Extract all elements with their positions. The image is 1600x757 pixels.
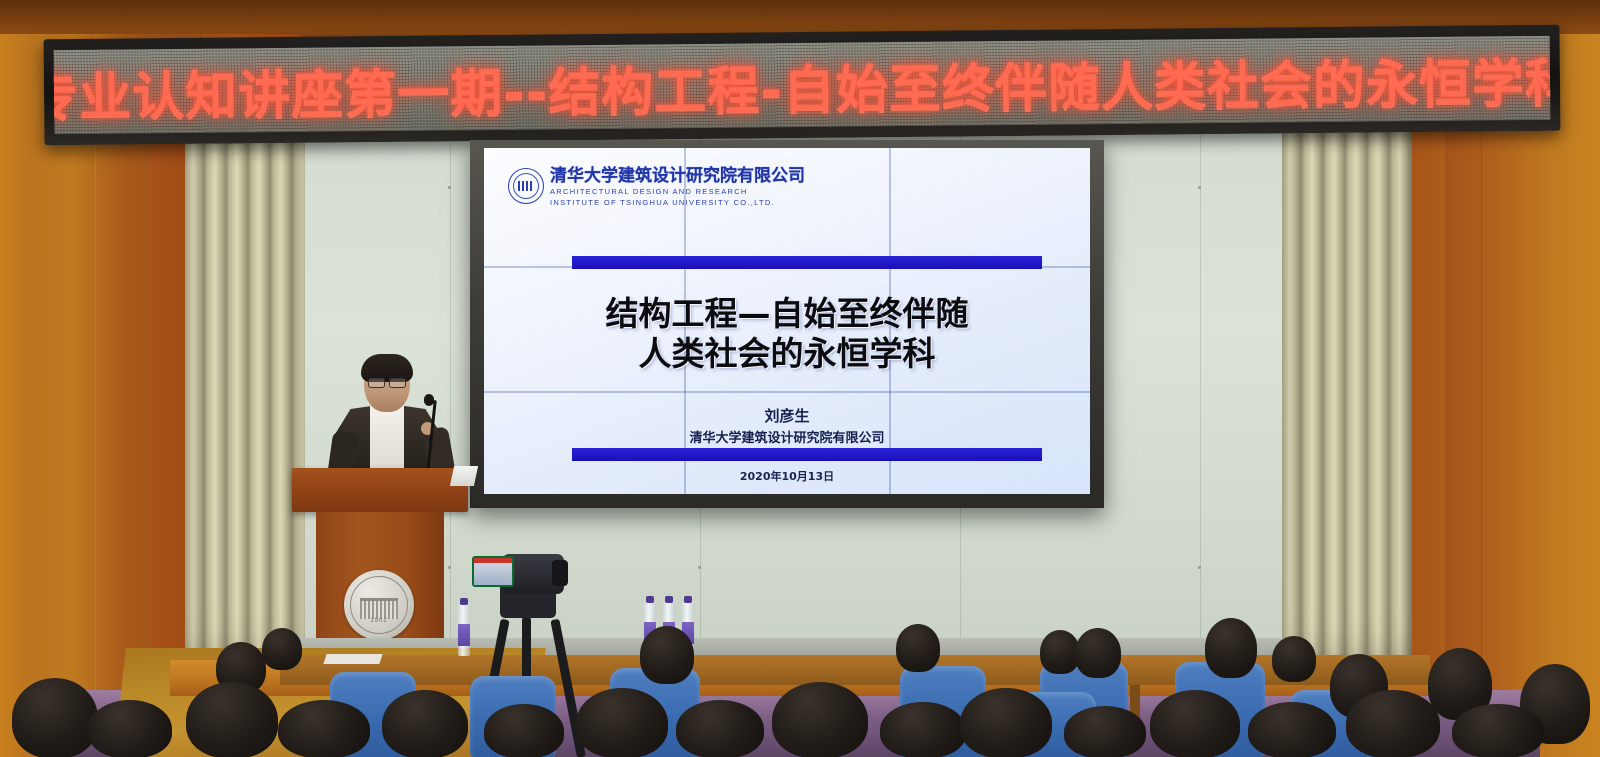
- podium-top: [292, 468, 468, 512]
- emblem-year: 1902: [344, 618, 414, 624]
- audience-head: [1075, 628, 1121, 678]
- audience-head: [1040, 630, 1080, 674]
- audience-head: [262, 628, 302, 670]
- audience-head: [960, 688, 1052, 757]
- slide-title: 结构工程—自始至终伴随 人类社会的永恒学科: [484, 294, 1090, 375]
- led-banner-frame: 专业认知讲座第一期--结构工程-自始至终伴随人类社会的永恒学科: [44, 25, 1561, 146]
- right-curtain: [1282, 122, 1412, 687]
- audience-head: [896, 624, 940, 672]
- audience-head: [484, 704, 564, 757]
- microphone-icon: [424, 394, 434, 406]
- university-emblem-icon: 1902: [344, 570, 414, 640]
- audience-head: [1452, 704, 1544, 757]
- led-banner-text: 专业认知讲座第一期--结构工程-自始至终伴随人类社会的永恒学科: [54, 40, 1551, 130]
- audience-head: [1248, 702, 1336, 757]
- led-banner-screen: 专业认知讲座第一期--结构工程-自始至终伴随人类社会的永恒学科: [54, 36, 1551, 134]
- camera-lens-icon: [552, 560, 568, 586]
- slide-logo-english-line2: INSTITUTE OF TSINGHUA UNIVERSITY CO.,LTD…: [550, 198, 805, 208]
- slide-logo-english-line1: ARCHITECTURAL DESIGN AND RESEARCH: [550, 187, 805, 197]
- slide-author: 刘彦生: [484, 405, 1090, 426]
- water-bottle: [458, 604, 470, 656]
- left-curtain: [185, 122, 305, 687]
- laptop-screen: [450, 466, 478, 486]
- audience-head: [12, 678, 98, 757]
- audience-head: [576, 688, 668, 757]
- slide-title-line1: 结构工程—自始至终伴随: [484, 294, 1090, 334]
- glasses-icon: [368, 378, 406, 386]
- audience-head: [640, 626, 694, 684]
- audience-head: [676, 700, 764, 757]
- audience-head: [186, 682, 278, 757]
- audience-head: [382, 690, 468, 757]
- tsinghua-seal-icon: [508, 168, 544, 204]
- slide-accent-bar-bottom: [572, 448, 1042, 461]
- slide-title-line2: 人类社会的永恒学科: [484, 334, 1090, 374]
- slide-logo-chinese: 清华大学建筑设计研究院有限公司: [550, 168, 805, 186]
- audience-head: [1272, 636, 1316, 682]
- audience-head: [1205, 618, 1257, 678]
- slide-logo: 清华大学建筑设计研究院有限公司 ARCHITECTURAL DESIGN AND…: [508, 168, 805, 208]
- audience-head: [1346, 690, 1440, 757]
- presentation-slide: 清华大学建筑设计研究院有限公司 ARCHITECTURAL DESIGN AND…: [484, 148, 1090, 494]
- audience-head: [772, 682, 868, 757]
- slide-organization: 清华大学建筑设计研究院有限公司: [484, 427, 1090, 446]
- slide-date: 2020年10月13日: [484, 468, 1090, 484]
- audience-head: [278, 700, 370, 757]
- audience-head: [1150, 690, 1240, 757]
- papers-on-table: [323, 654, 382, 664]
- slide-accent-bar-top: [572, 256, 1042, 269]
- speaker-shirt: [370, 406, 404, 472]
- audience-head: [88, 700, 172, 757]
- lecture-hall-scene: 专业认知讲座第一期--结构工程-自始至终伴随人类社会的永恒学科 清华大学建筑设计…: [0, 0, 1600, 757]
- camera-lcd-screen: [472, 556, 514, 587]
- video-wall-bezel: 清华大学建筑设计研究院有限公司 ARCHITECTURAL DESIGN AND…: [470, 140, 1104, 508]
- audience-head: [880, 702, 966, 757]
- audience-head: [1064, 706, 1146, 757]
